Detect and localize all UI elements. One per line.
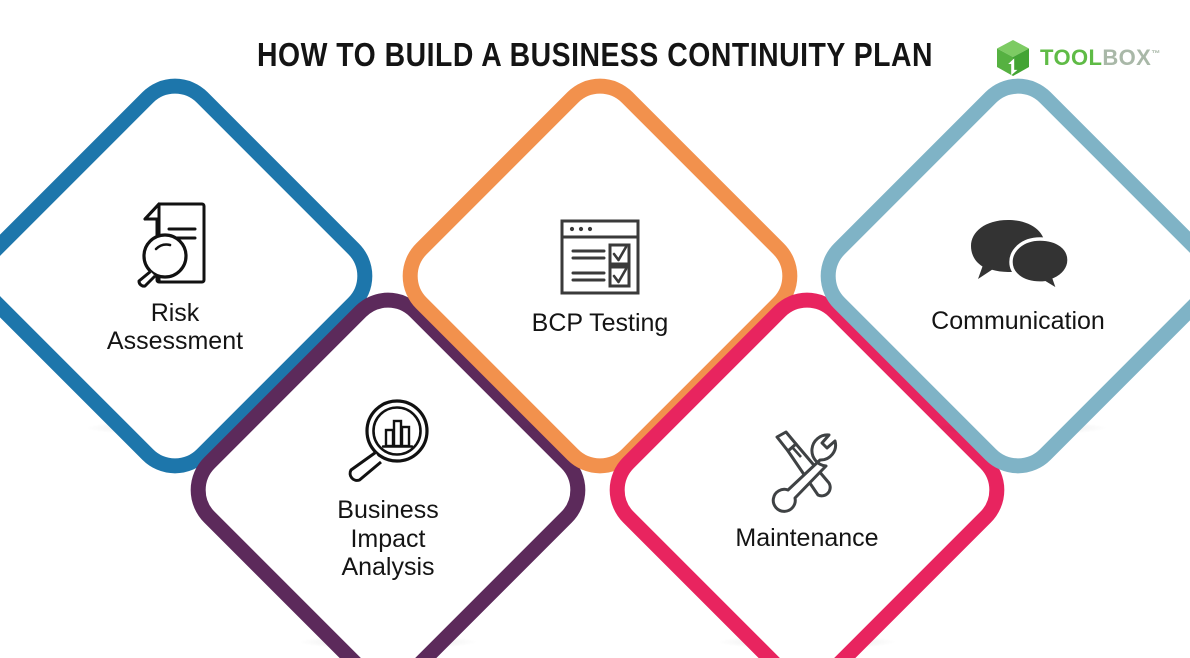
node-content: Communication	[865, 123, 1171, 429]
screwdriver-wrench-icon	[763, 428, 851, 514]
node-layer: Risk Assessment Bus	[0, 0, 1190, 658]
document-magnifier-icon	[132, 197, 218, 289]
checklist-window-icon	[558, 215, 642, 299]
infographic-canvas: HOW TO BUILD A BUSINESS CONTINUITY PLAN …	[0, 0, 1190, 658]
step-label: BCP Testing	[532, 309, 669, 338]
step-label: Communication	[931, 307, 1105, 336]
step-node-communication[interactable]: Communication	[865, 123, 1171, 429]
speech-bubbles-icon	[962, 217, 1074, 297]
magnifier-bar-chart-icon	[342, 398, 434, 486]
step-label: Risk Assessment	[107, 299, 243, 356]
process-flow: Risk Assessment Bus	[0, 0, 1190, 658]
step-label: Maintenance	[735, 524, 878, 553]
step-label: Business Impact Analysis	[337, 496, 438, 582]
